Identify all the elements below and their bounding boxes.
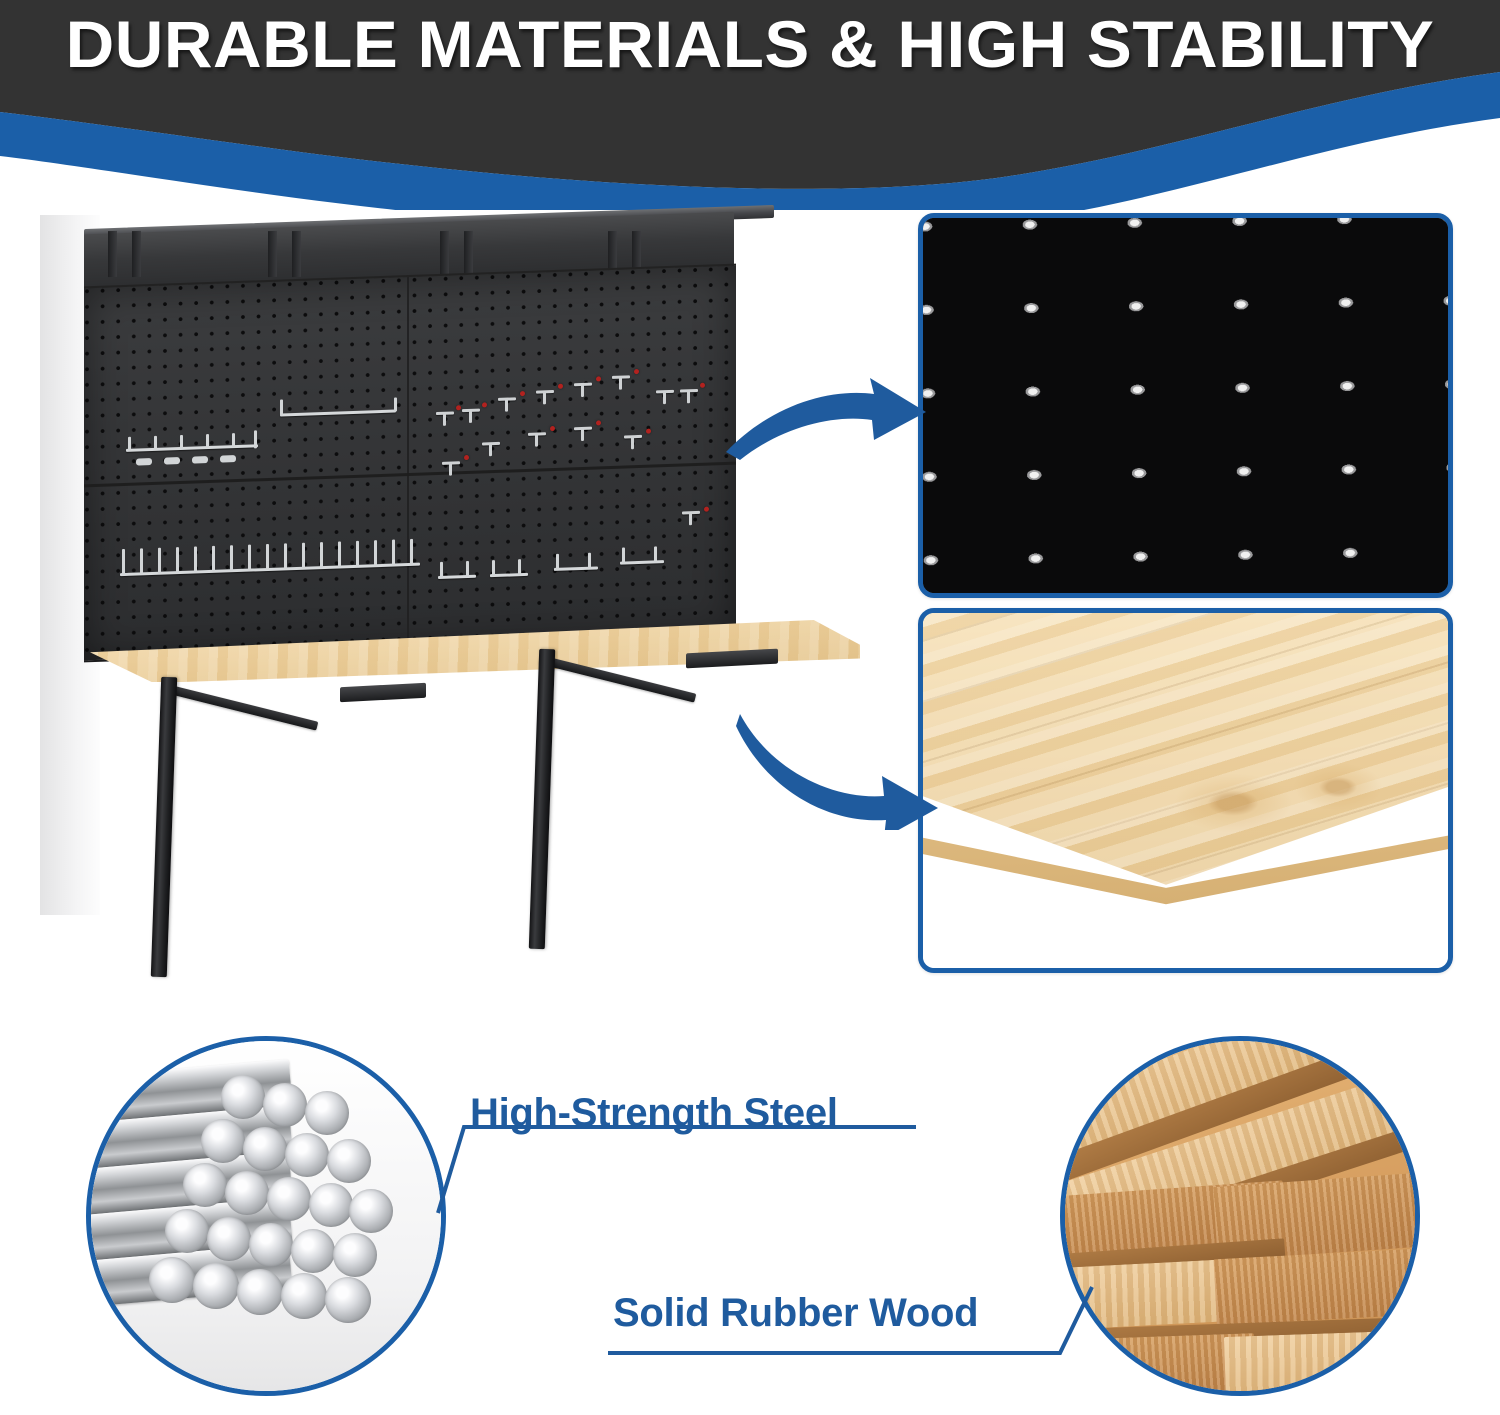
wood-knot — [1173, 773, 1293, 833]
steel-rod-end — [183, 1163, 227, 1207]
hook-tip — [634, 369, 639, 374]
rail-rib — [268, 231, 277, 277]
hook-tip — [550, 426, 555, 431]
pegboard-hook — [680, 389, 698, 392]
steel-rod-end — [281, 1273, 327, 1319]
pegboard-hook — [574, 427, 592, 430]
pegboard-seam — [407, 277, 409, 649]
pegboard-hook — [254, 430, 257, 448]
pegboard-hook — [588, 553, 591, 569]
pegboard-hook — [392, 540, 395, 566]
pegboard-hook — [536, 390, 554, 393]
steel-rod-end — [243, 1127, 287, 1171]
rail-rib — [440, 231, 449, 277]
steel-callout-label: High-Strength Steel — [470, 1091, 838, 1136]
pegboard-hook — [122, 549, 125, 575]
hook-tip — [456, 405, 461, 410]
pegboard-hook — [436, 411, 454, 414]
hook-tip — [596, 420, 601, 425]
hook-tip — [646, 429, 651, 434]
pegboard-hook — [438, 575, 476, 579]
pegboard-hook — [492, 560, 495, 576]
pegboard-hook — [140, 548, 143, 574]
pegboard-hook — [212, 546, 215, 572]
steel-rod-end — [305, 1091, 349, 1135]
pegboard-hook — [280, 399, 283, 415]
hero-product-image — [40, 205, 870, 1005]
steel-rod-end — [165, 1209, 209, 1253]
pegboard-hook — [466, 561, 469, 577]
pegboard-hook — [394, 397, 397, 411]
header-banner: DURABLE MATERIALS & HIGH STABILITY — [0, 0, 1500, 210]
pegboard-hook — [498, 397, 516, 400]
pegboard-hook — [280, 409, 396, 416]
lumber-board — [1224, 1329, 1420, 1396]
pegboard-hook — [220, 455, 236, 463]
steel-rod-end — [249, 1223, 293, 1267]
pegboard-hook — [490, 573, 528, 577]
wood-detail-panel — [918, 608, 1453, 973]
pegboard-hook — [136, 458, 152, 466]
arrow-to-pegboard-panel — [724, 366, 934, 486]
pegboard-hook — [356, 541, 359, 567]
folding-leg — [151, 677, 177, 977]
steel-rod-end — [263, 1083, 307, 1127]
pegboard-hook — [440, 562, 443, 578]
steel-rod-end — [193, 1263, 239, 1309]
pegboard-panel — [84, 264, 736, 663]
pegboard-hook — [206, 434, 209, 448]
pegboard-hook — [154, 436, 157, 450]
pegboard-hook — [620, 560, 664, 565]
steel-rod-end — [149, 1257, 195, 1303]
pegboard-hook — [232, 433, 235, 447]
steel-rod-end — [237, 1269, 283, 1315]
pegboard-hook — [528, 432, 546, 435]
steel-rod-end — [291, 1229, 335, 1273]
pegboard-hook — [622, 547, 625, 563]
steel-rod-end — [309, 1183, 353, 1227]
pegboard-hook — [654, 546, 657, 562]
pegboard-hook — [442, 461, 460, 464]
steel-rod-end — [285, 1133, 329, 1177]
pegboard-hook — [482, 442, 500, 445]
pegboard-hook — [462, 409, 480, 412]
pegboard-texture — [918, 213, 1453, 598]
pegboard-hook — [574, 383, 592, 386]
rail-rib — [292, 231, 301, 277]
pegboard-hook — [320, 542, 323, 568]
pegboard-hook — [302, 543, 305, 569]
pegboard-hook — [284, 543, 287, 569]
wood-callout-label: Solid Rubber Wood — [613, 1291, 978, 1336]
pegboard-hook — [338, 541, 341, 567]
steel-rod-end — [201, 1119, 245, 1163]
steel-rod-end — [207, 1217, 251, 1261]
pegboard-hook — [126, 444, 258, 452]
pegboard-hook — [656, 390, 674, 393]
pegboard-hook — [192, 456, 208, 464]
hook-tip — [464, 455, 469, 460]
pegboard-hook — [194, 546, 197, 572]
page-title: DURABLE MATERIALS & HIGH STABILITY — [0, 6, 1500, 82]
pegboard-seam — [84, 462, 736, 488]
hook-tip — [704, 507, 709, 512]
pegboard-hook — [410, 539, 413, 565]
pegboard-hook — [612, 375, 630, 378]
hook-tip — [700, 383, 705, 388]
pegboard-hook — [164, 457, 180, 465]
pegboard-hook — [554, 566, 598, 571]
rail-rib — [132, 231, 141, 277]
pegboard-hook — [176, 547, 179, 573]
hook-tip — [520, 391, 525, 396]
steel-rod-end — [225, 1171, 269, 1215]
rail-rib — [108, 231, 117, 277]
hook-tip — [558, 384, 563, 389]
pegboard-hook — [556, 554, 559, 570]
lumber-board-end — [1213, 1247, 1420, 1325]
steel-rod-end — [221, 1075, 265, 1119]
arrow-to-wood-panel — [736, 704, 946, 830]
pegboard-hook — [230, 545, 233, 571]
pegboard-hook — [248, 545, 251, 571]
pegboard-hook — [180, 435, 183, 449]
pegboard-assembly — [68, 223, 758, 653]
rail-rib — [464, 231, 473, 277]
steel-rod-end — [325, 1277, 371, 1323]
steel-rod-end — [267, 1177, 311, 1221]
pegboard-hook — [128, 437, 131, 451]
pegboard-hook — [158, 548, 161, 574]
lumber-scene — [1065, 1041, 1415, 1391]
wood-knot — [1293, 763, 1383, 811]
pegboard-hook — [374, 540, 377, 566]
wood-callout-image — [1060, 1036, 1420, 1396]
hook-tip — [596, 376, 601, 381]
wood-texture — [923, 613, 1448, 968]
pegboard-hook — [518, 559, 521, 575]
pegboard-hook — [266, 544, 269, 570]
pegboard-hook — [682, 511, 700, 514]
pegboard-hook — [624, 435, 642, 438]
pegboard-detail-panel — [918, 213, 1453, 598]
steel-rod-end — [333, 1233, 377, 1277]
hook-tip — [482, 402, 487, 407]
